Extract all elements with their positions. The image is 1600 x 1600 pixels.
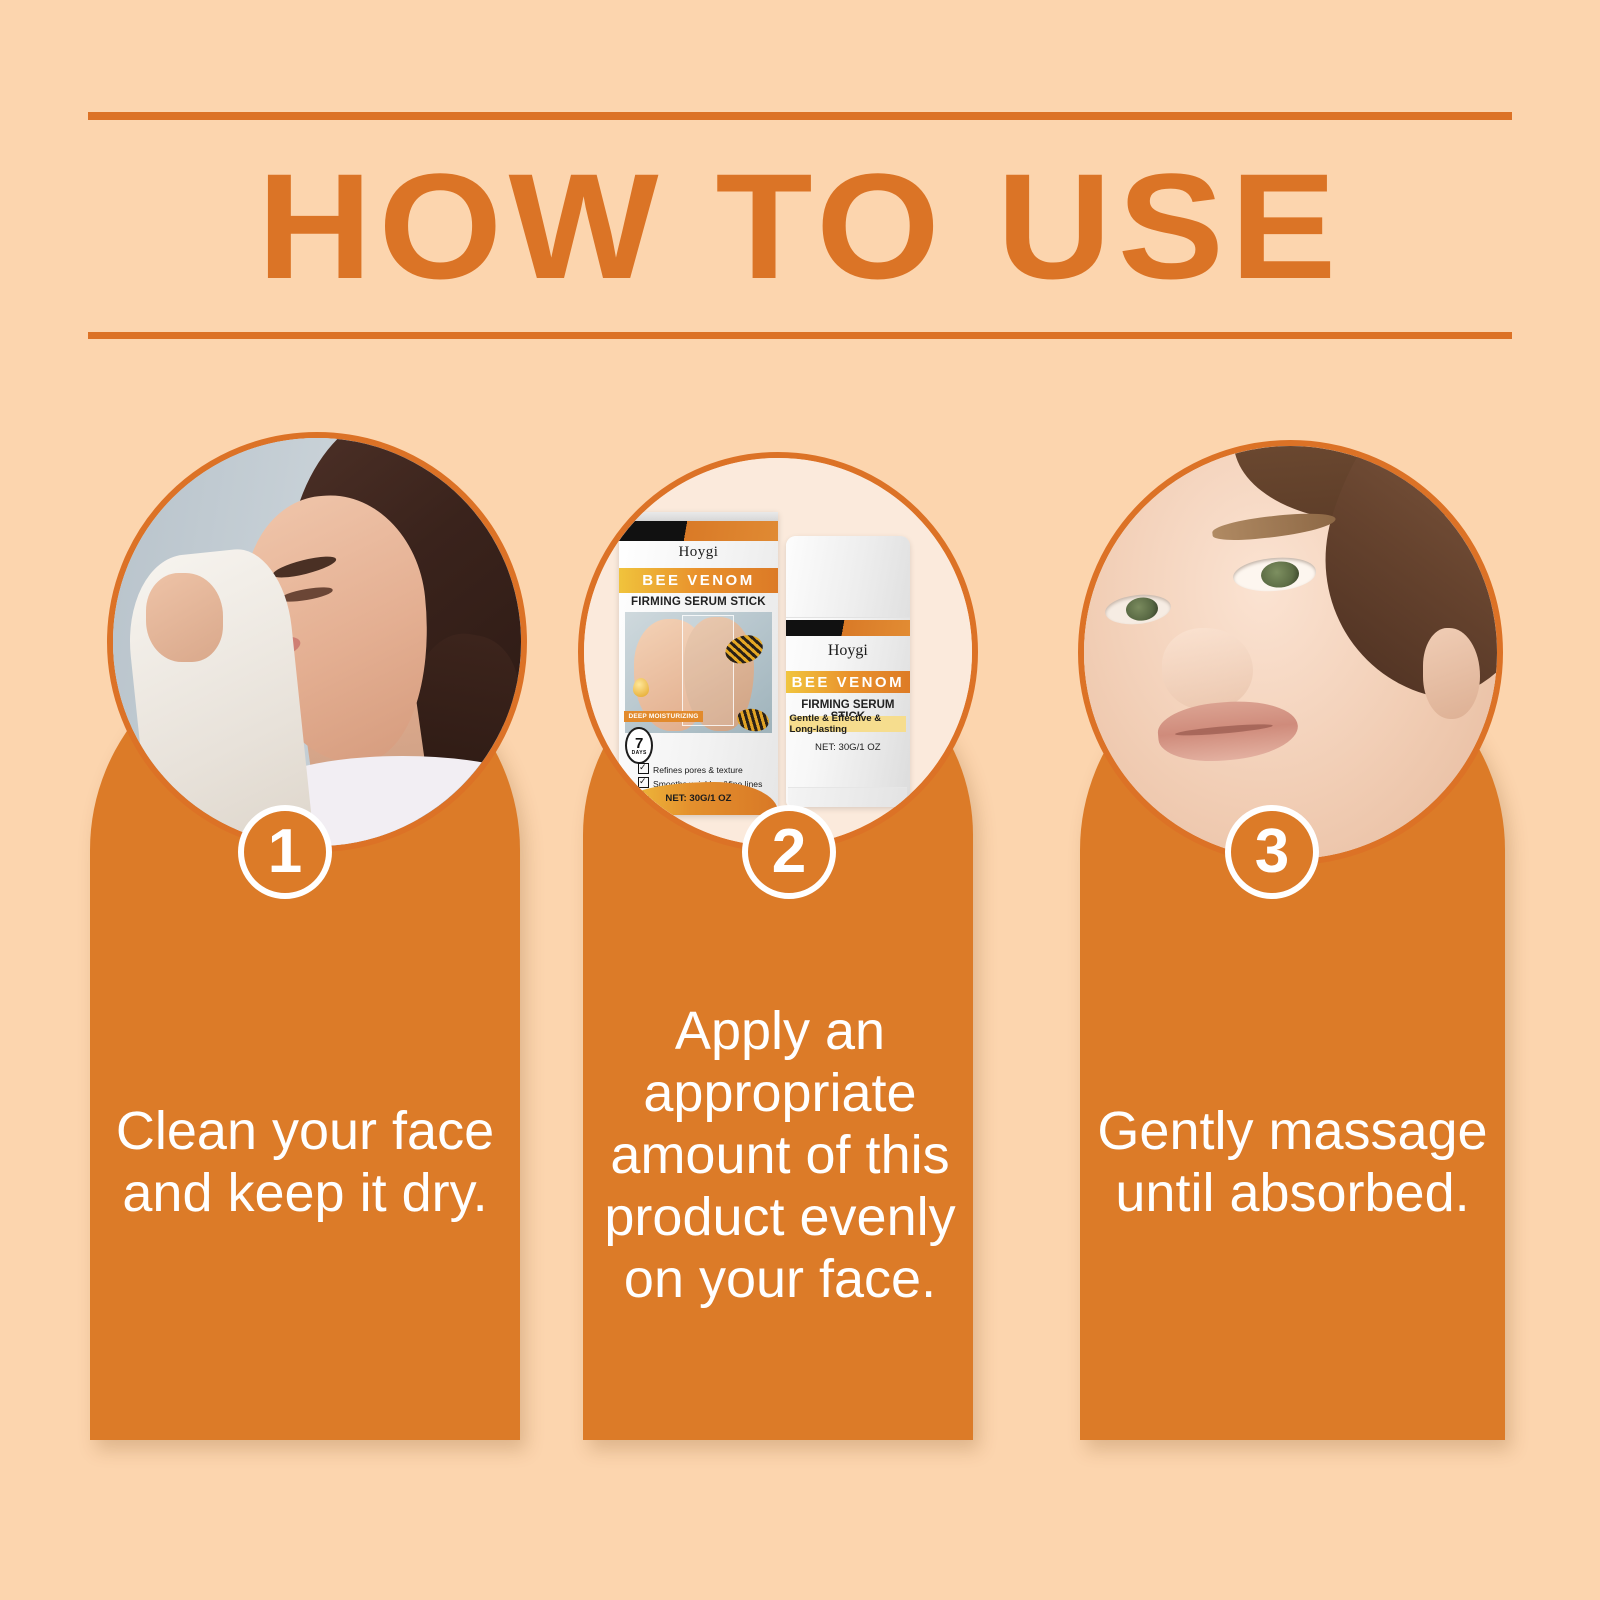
check-icon [638,763,649,774]
step-3-caption: Gently massage until absorbed. [1095,1100,1490,1224]
product-box: Hoygi BEE VENOM FIRMING SERUM STICK DEEP… [619,512,778,815]
product-box-bullet: Refines pores & texture [653,765,743,775]
step-1-photo-art [113,438,521,846]
step-1-number: 1 [268,821,302,883]
step-2-photo: Hoygi BEE VENOM FIRMING SERUM STICK DEEP… [578,452,978,852]
honey-drop-icon [633,678,649,697]
step-1-caption: Clean your face and keep it dry. [105,1100,505,1224]
product-tube-net-weight: NET: 30G/1 OZ [786,742,910,753]
product-box-claim-badge: DEEP MOISTURIZING [624,711,702,722]
step-3-photo [1078,440,1503,865]
product-tube-brand: Hoygi [786,642,910,660]
step-1-photo [107,432,527,852]
check-icon [638,777,649,788]
product-tube-tagline: Gentle & Effective & Long-lasting [789,713,906,735]
product-box-type: FIRMING SERUM STICK [619,596,778,608]
step-2-photo-art: Hoygi BEE VENOM FIRMING SERUM STICK DEEP… [584,458,972,846]
product-box-line: BEE VENOM [642,572,755,589]
step-2-number: 2 [772,821,806,883]
product-box-brand: Hoygi [619,544,778,561]
product-tube: Hoygi BEE VENOM FIRMING SERUM STICK Gent… [786,536,910,808]
steps-container: 1 Clean your face and keep it dry. Hoygi… [0,0,1600,1600]
step-3-photo-art [1084,446,1497,859]
seven-days-number: 7 [635,736,643,751]
seven-days-badge: 7 DAYS [625,727,653,764]
product-box-net-weight: NET: 30G/1 OZ [665,793,731,804]
step-1-number-badge: 1 [238,805,332,899]
step-2-caption: Apply an appropriate amount of this prod… [595,1000,965,1310]
step-3-number: 3 [1255,821,1289,883]
product-tube-line: BEE VENOM [792,674,905,691]
step-2-number-badge: 2 [742,805,836,899]
seven-days-label: DAYS [632,751,647,756]
step-3-number-badge: 3 [1225,805,1319,899]
